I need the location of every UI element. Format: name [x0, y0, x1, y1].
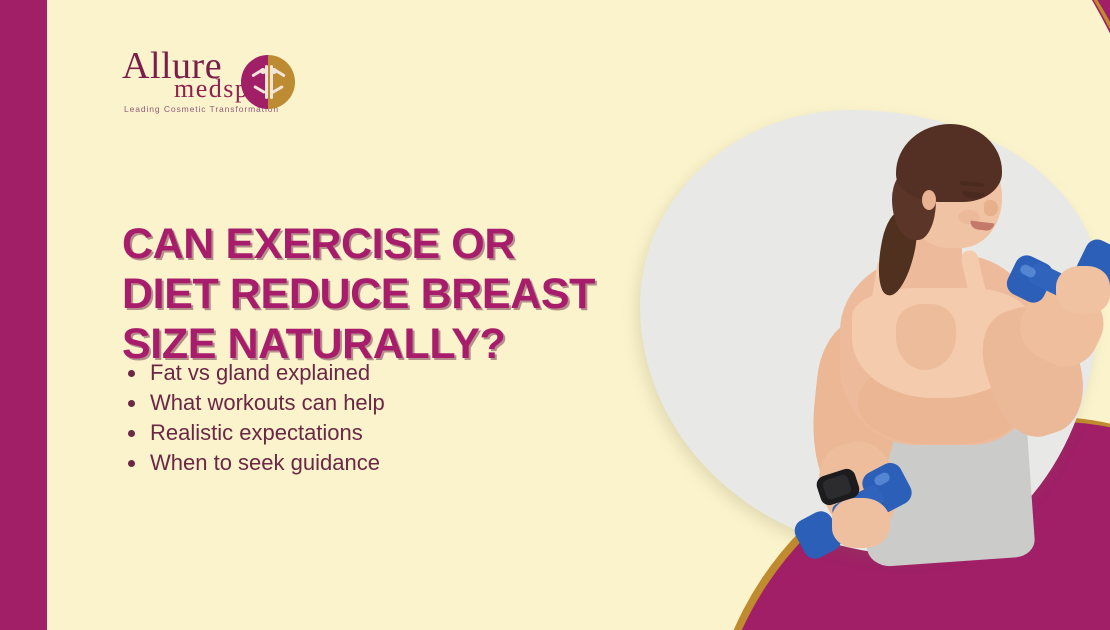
list-item: Realistic expectations — [122, 418, 552, 448]
nose — [984, 200, 998, 216]
brand-logo[interactable]: Allure medspa Leading Cosmetic Transform… — [122, 42, 297, 120]
bullet-dot-icon — [128, 400, 135, 407]
list-item-label: Fat vs gland explained — [150, 360, 370, 385]
bullet-dot-icon — [128, 460, 135, 467]
list-item: What workouts can help — [122, 388, 552, 418]
right-hand — [1056, 266, 1110, 314]
left-hand — [832, 498, 890, 548]
headline-line-1: CAN EXERCISE OR — [122, 219, 662, 269]
bullet-dot-icon — [128, 430, 135, 437]
hair-top — [896, 124, 1002, 202]
dancing-figures-icon — [241, 55, 295, 109]
benefit-list: Fat vs gland explained What workouts can… — [122, 358, 552, 478]
magenta-left-strip — [0, 0, 47, 630]
page-title: CAN EXERCISE OR DIET REDUCE BREAST SIZE … — [122, 219, 662, 369]
list-item-label: Realistic expectations — [150, 420, 363, 445]
marketing-banner: Allure medspa Leading Cosmetic Transform… — [0, 0, 1110, 630]
headline-line-2: DIET REDUCE BREAST — [122, 269, 662, 319]
list-item-label: When to seek guidance — [150, 450, 380, 475]
model-photo — [770, 90, 1110, 560]
bullet-dot-icon — [128, 370, 135, 377]
list-item: Fat vs gland explained — [122, 358, 552, 388]
list-item-label: What workouts can help — [150, 390, 385, 415]
list-item: When to seek guidance — [122, 448, 552, 478]
ear — [922, 190, 936, 210]
